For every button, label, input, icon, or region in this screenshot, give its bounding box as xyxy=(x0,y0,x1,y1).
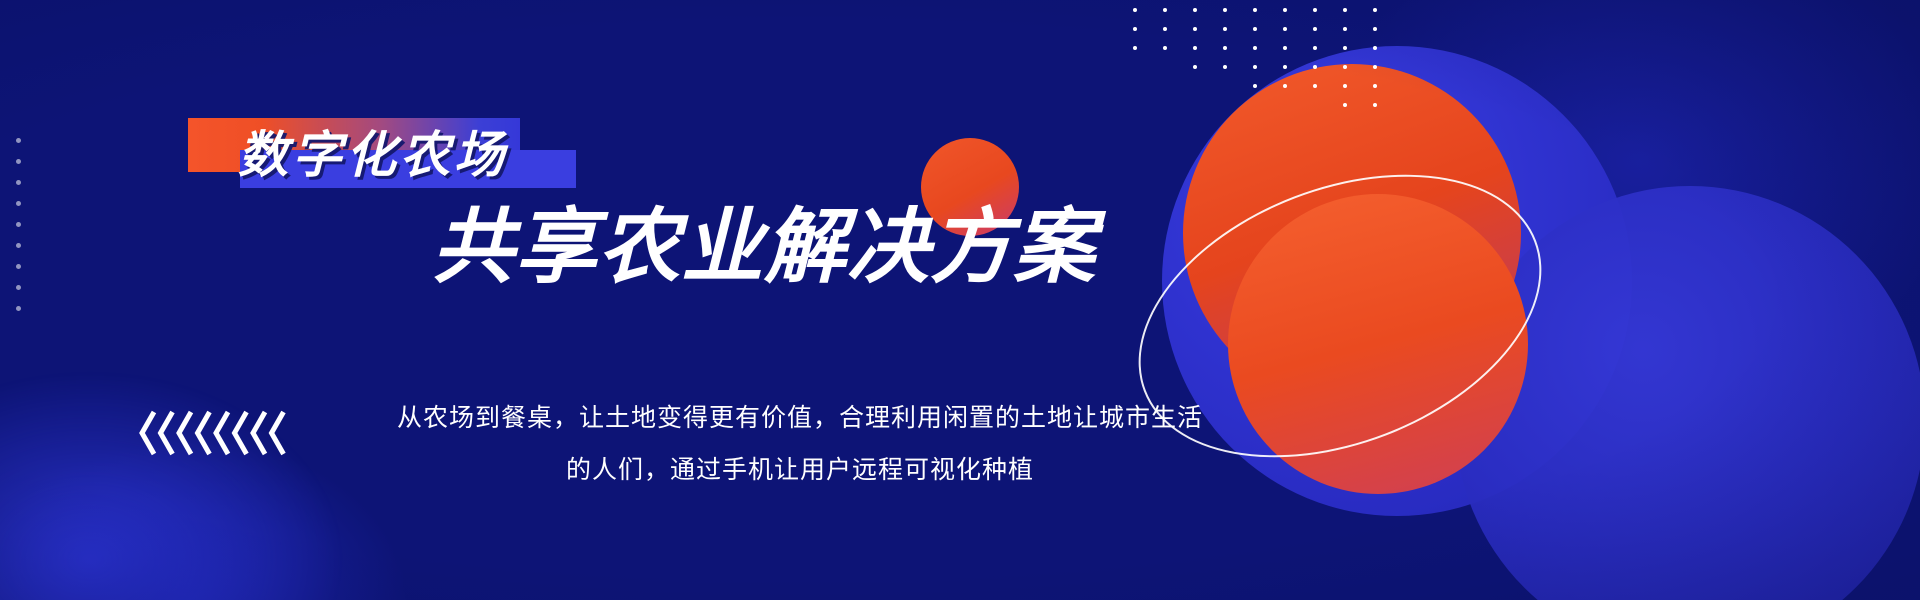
subtitle-line-2: 的人们，通过手机让用户远程可视化种植 xyxy=(320,444,1280,496)
badge-label: 数字化农场 xyxy=(238,116,658,186)
dot-column-icon xyxy=(16,138,22,318)
subtitle-block: 从农场到餐桌，让土地变得更有价值，合理利用闲置的土地让城市生活 的人们，通过手机… xyxy=(320,392,1280,496)
subtitle-line-1: 从农场到餐桌，让土地变得更有价值，合理利用闲置的土地让城市生活 xyxy=(320,392,1280,444)
hero-banner: 数字化农场 共享农业解决方案 从农场到餐桌，让土地变得更有价值，合理利用闲置的土… xyxy=(0,0,1920,600)
chevrons-left-icon xyxy=(138,410,298,456)
dot-grid-icon xyxy=(1133,8,1401,112)
page-title: 共享农业解决方案 xyxy=(432,198,1192,298)
